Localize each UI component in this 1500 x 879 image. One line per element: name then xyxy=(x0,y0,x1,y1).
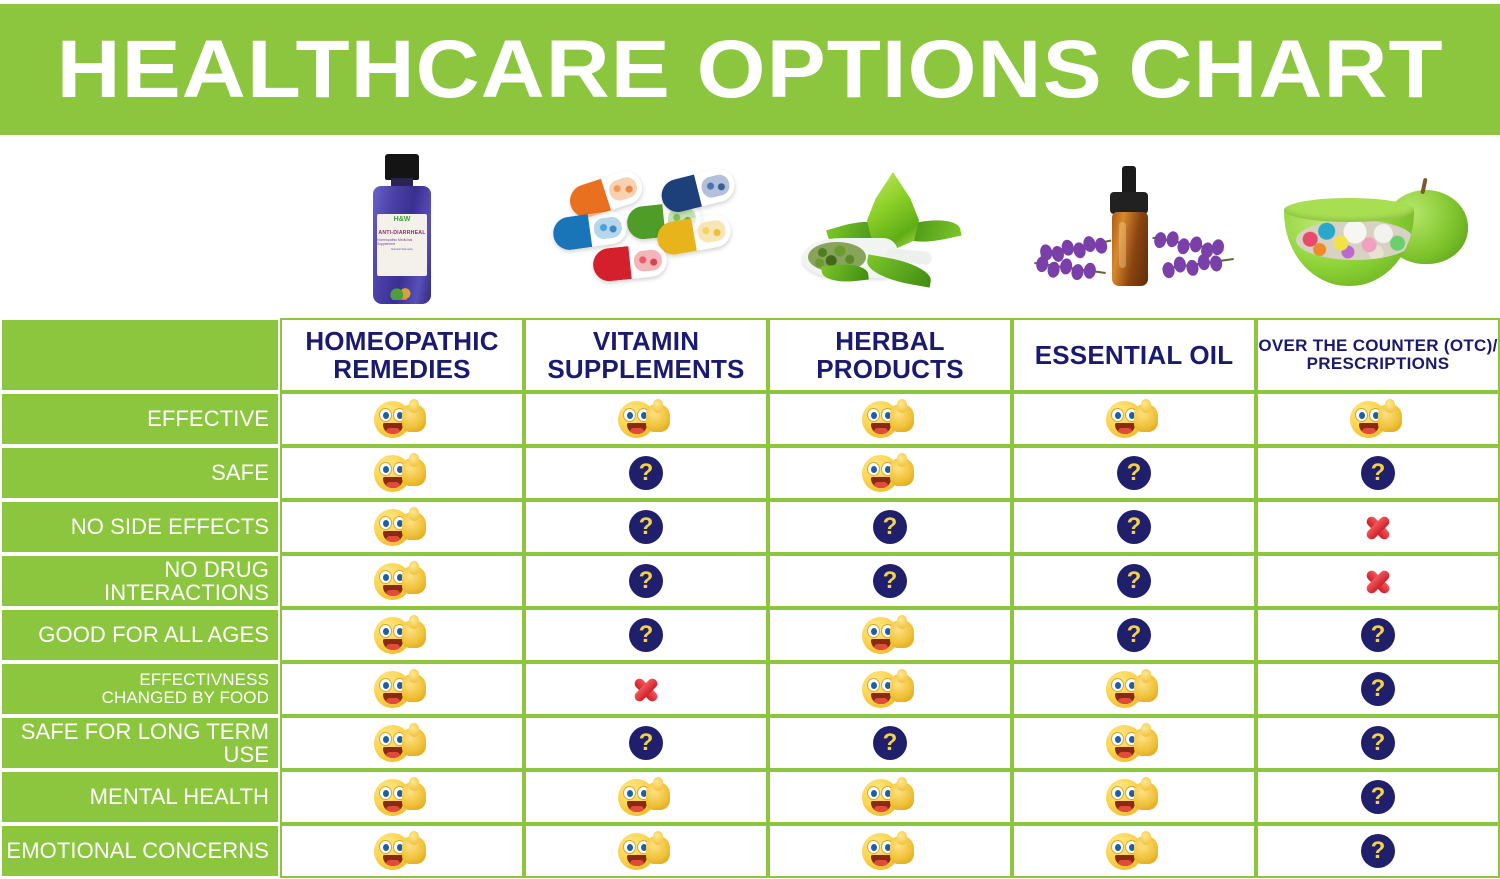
table-corner-cell xyxy=(0,318,280,392)
herbal-leaves-droplet-image xyxy=(768,140,1012,318)
question-mark-icon: ? xyxy=(629,510,663,544)
rating-cell-question: ? xyxy=(524,500,768,554)
rating-cell-question: ? xyxy=(1256,608,1500,662)
pills-pile xyxy=(1296,220,1414,260)
row-label: NO SIDE EFFECTS xyxy=(0,500,280,554)
rating-cell-question: ? xyxy=(524,446,768,500)
rating-cell-smiley xyxy=(280,500,524,554)
essential-oil-graphic xyxy=(1034,164,1234,294)
column-header-vitamin-supplements: VITAMIN SUPPLEMENTS xyxy=(524,318,768,392)
dropper-collar xyxy=(1110,192,1148,214)
column-header-line-2: REMEDIES xyxy=(305,355,498,383)
thumbs-up-smiley-icon xyxy=(862,616,918,654)
rating-cell-question: ? xyxy=(1256,824,1500,878)
rating-cell-smiley xyxy=(280,824,524,878)
bottle-herb-graphic xyxy=(389,287,415,300)
rating-cell-smiley xyxy=(524,770,768,824)
rating-cell-smiley xyxy=(768,392,1012,446)
rating-cell-question: ? xyxy=(1012,608,1256,662)
rating-cell-question: ? xyxy=(1012,446,1256,500)
question-mark-icon: ? xyxy=(1117,564,1151,598)
question-mark-icon: ? xyxy=(1117,618,1151,652)
product-image-strip: H&W ANTI-DIARRHEAL Homeopathic Medicinal… xyxy=(0,140,1500,318)
rating-cell-smiley xyxy=(1012,392,1256,446)
table-body: EFFECTIVESAFE???NO SIDE EFFECTS???NO DRU… xyxy=(0,392,1500,878)
thumbs-up-smiley-icon xyxy=(374,508,430,546)
question-mark-icon: ? xyxy=(629,456,663,490)
red-cross-icon xyxy=(629,673,663,705)
question-mark-icon: ? xyxy=(629,564,663,598)
column-header-line-1: HOMEOPATHIC xyxy=(305,327,498,355)
question-mark-icon: ? xyxy=(1117,510,1151,544)
page-title: HEALTHCARE OPTIONS CHART xyxy=(56,29,1443,111)
rating-cell-cross xyxy=(524,662,768,716)
rating-cell-smiley xyxy=(1012,716,1256,770)
rating-cell-cross xyxy=(1256,500,1500,554)
title-banner: HEALTHCARE OPTIONS CHART xyxy=(0,4,1500,135)
row-label: NO DRUG INTERACTIONS xyxy=(0,554,280,608)
rating-cell-question: ? xyxy=(768,500,1012,554)
bottle-cap xyxy=(385,154,419,180)
rating-cell-question: ? xyxy=(1256,770,1500,824)
table-row: EFFECTIVE xyxy=(0,392,1500,446)
bottle-brand: H&W xyxy=(394,216,411,223)
row-label: GOOD FOR ALL AGES xyxy=(0,608,280,662)
table-row: NO SIDE EFFECTS??? xyxy=(0,500,1500,554)
column-header-line-1: HERBAL xyxy=(816,327,964,355)
thumbs-up-smiley-icon xyxy=(618,400,674,438)
row-label-line-1: EFFECTIVNESS xyxy=(102,671,269,689)
red-cross-icon xyxy=(1361,511,1395,543)
thumbs-up-smiley-icon xyxy=(1106,832,1162,870)
rating-cell-smiley xyxy=(280,392,524,446)
thumbs-up-smiley-icon xyxy=(374,724,430,762)
rating-cell-question: ? xyxy=(1012,554,1256,608)
question-mark-icon: ? xyxy=(873,510,907,544)
rating-cell-question: ? xyxy=(524,554,768,608)
table-row: EFFECTIVNESSCHANGED BY FOOD? xyxy=(0,662,1500,716)
thumbs-up-smiley-icon xyxy=(1350,400,1406,438)
question-mark-icon: ? xyxy=(1361,618,1395,652)
thumbs-up-smiley-icon xyxy=(1106,724,1162,762)
row-label: MENTAL HEALTH xyxy=(0,770,280,824)
table-row: GOOD FOR ALL AGES??? xyxy=(0,608,1500,662)
question-mark-icon: ? xyxy=(1117,456,1151,490)
essential-oil-bottle-lavender-image xyxy=(1012,140,1256,318)
question-mark-icon: ? xyxy=(873,726,907,760)
rating-cell-smiley xyxy=(280,716,524,770)
thumbs-up-smiley-icon xyxy=(374,616,430,654)
row-label: SAFE xyxy=(0,446,280,500)
rating-cell-question: ? xyxy=(1256,446,1500,500)
thumbs-up-smiley-icon xyxy=(862,670,918,708)
homeopathic-remedy-bottle-image: H&W ANTI-DIARRHEAL Homeopathic Medicinal… xyxy=(280,140,524,318)
rating-cell-question: ? xyxy=(1256,662,1500,716)
question-mark-icon: ? xyxy=(873,564,907,598)
column-header-line-2: PRESCRIPTIONS xyxy=(1258,355,1497,373)
healthcare-options-chart-page: HEALTHCARE OPTIONS CHART H&W ANTI-DIARRH… xyxy=(0,0,1500,879)
column-header-herbal-products: HERBAL PRODUCTS xyxy=(768,318,1012,392)
red-cross-icon xyxy=(1361,565,1395,597)
rating-cell-smiley xyxy=(768,824,1012,878)
thumbs-up-smiley-icon xyxy=(374,400,430,438)
column-header-essential-oil: ESSENTIAL OIL xyxy=(1012,318,1256,392)
thumbs-up-smiley-icon xyxy=(618,832,674,870)
rating-cell-question: ? xyxy=(1012,500,1256,554)
table-row: SAFE FOR LONG TERM USE??? xyxy=(0,716,1500,770)
column-header-otc-prescriptions: OVER THE COUNTER (OTC)/ PRESCRIPTIONS xyxy=(1256,318,1500,392)
column-header-line-2: SUPPLEMENTS xyxy=(547,355,744,383)
question-mark-icon: ? xyxy=(1361,780,1395,814)
column-header-line-1: ESSENTIAL OIL xyxy=(1035,341,1234,369)
rating-cell-question: ? xyxy=(524,608,768,662)
thumbs-up-smiley-icon xyxy=(1106,778,1162,816)
rating-cell-smiley xyxy=(768,446,1012,500)
rating-cell-smiley xyxy=(280,770,524,824)
comparison-table: HOMEOPATHIC REMEDIES VITAMIN SUPPLEMENTS… xyxy=(0,318,1500,878)
lavender-sprig-right-2 xyxy=(1161,249,1235,279)
row-label-line-2: CHANGED BY FOOD xyxy=(102,689,269,707)
capsule-blue xyxy=(551,209,629,252)
table-header-row: HOMEOPATHIC REMEDIES VITAMIN SUPPLEMENTS… xyxy=(0,318,1500,392)
rating-cell-smiley xyxy=(768,608,1012,662)
thumbs-up-smiley-icon xyxy=(374,778,430,816)
capsule-red xyxy=(591,242,668,283)
bottle-product-name: ANTI-DIARRHEAL xyxy=(378,230,425,236)
thumbs-up-smiley-icon xyxy=(374,670,430,708)
rating-cell-question: ? xyxy=(768,554,1012,608)
thumbs-up-smiley-icon xyxy=(1106,400,1162,438)
bowl-rim xyxy=(1284,198,1414,222)
thumbs-up-smiley-icon xyxy=(374,454,430,492)
rating-cell-smiley xyxy=(280,608,524,662)
table-row: MENTAL HEALTH? xyxy=(0,770,1500,824)
rating-cell-smiley xyxy=(1012,662,1256,716)
column-header-line-1: OVER THE COUNTER (OTC)/ xyxy=(1258,337,1497,355)
table-row: SAFE??? xyxy=(0,446,1500,500)
bottle-subtitle-2: Natural Remedy xyxy=(391,247,413,251)
herbal-graphic xyxy=(800,164,980,294)
rating-cell-smiley xyxy=(280,662,524,716)
thumbs-up-smiley-icon xyxy=(862,400,918,438)
thumbs-up-smiley-icon xyxy=(374,562,430,600)
column-header-line-2: PRODUCTS xyxy=(816,355,964,383)
rating-cell-smiley xyxy=(1012,824,1256,878)
thumbs-up-smiley-icon xyxy=(374,832,430,870)
question-mark-icon: ? xyxy=(629,618,663,652)
bottle-label: H&W ANTI-DIARRHEAL Homeopathic Medicinal… xyxy=(377,214,427,276)
rating-cell-cross xyxy=(1256,554,1500,608)
lavender-sprig-left-2 xyxy=(1033,253,1107,283)
thumbs-up-smiley-icon xyxy=(862,454,918,492)
thumbs-up-smiley-icon xyxy=(1106,670,1162,708)
thumbs-up-smiley-icon xyxy=(862,832,918,870)
column-header-line-1: VITAMIN xyxy=(547,327,744,355)
rating-cell-smiley xyxy=(524,392,768,446)
row-label: EFFECTIVNESSCHANGED BY FOOD xyxy=(0,662,280,716)
otc-pills-bowl-apple-image xyxy=(1256,140,1500,318)
rating-cell-question: ? xyxy=(1256,716,1500,770)
row-label: EMOTIONAL CONCERNS xyxy=(0,824,280,878)
row-label: SAFE FOR LONG TERM USE xyxy=(0,716,280,770)
otc-graphic xyxy=(1278,164,1478,294)
question-mark-icon: ? xyxy=(629,726,663,760)
row-label: EFFECTIVE xyxy=(0,392,280,446)
question-mark-icon: ? xyxy=(1361,672,1395,706)
capsules-graphic xyxy=(551,170,741,288)
rating-cell-smiley xyxy=(1256,392,1500,446)
rating-cell-smiley xyxy=(280,554,524,608)
rating-cell-smiley xyxy=(280,446,524,500)
rating-cell-question: ? xyxy=(524,716,768,770)
question-mark-icon: ? xyxy=(1361,834,1395,868)
column-header-homeopathic-remedies: HOMEOPATHIC REMEDIES xyxy=(280,318,524,392)
rating-cell-smiley xyxy=(768,770,1012,824)
amber-bottle xyxy=(1112,212,1148,286)
table-row: NO DRUG INTERACTIONS??? xyxy=(0,554,1500,608)
remedy-bottle-graphic: H&W ANTI-DIARRHEAL Homeopathic Medicinal… xyxy=(373,154,431,304)
rating-cell-smiley xyxy=(768,662,1012,716)
question-mark-icon: ? xyxy=(1361,726,1395,760)
bottle-subtitle-1: Homeopathic Medicinal Supplement xyxy=(377,238,427,246)
table-row: EMOTIONAL CONCERNS? xyxy=(0,824,1500,878)
vitamin-capsules-image xyxy=(524,140,768,318)
rating-cell-smiley xyxy=(524,824,768,878)
rating-cell-question: ? xyxy=(768,716,1012,770)
thumbs-up-smiley-icon xyxy=(862,778,918,816)
rating-cell-smiley xyxy=(1012,770,1256,824)
thumbs-up-smiley-icon xyxy=(618,778,674,816)
question-mark-icon: ? xyxy=(1361,456,1395,490)
